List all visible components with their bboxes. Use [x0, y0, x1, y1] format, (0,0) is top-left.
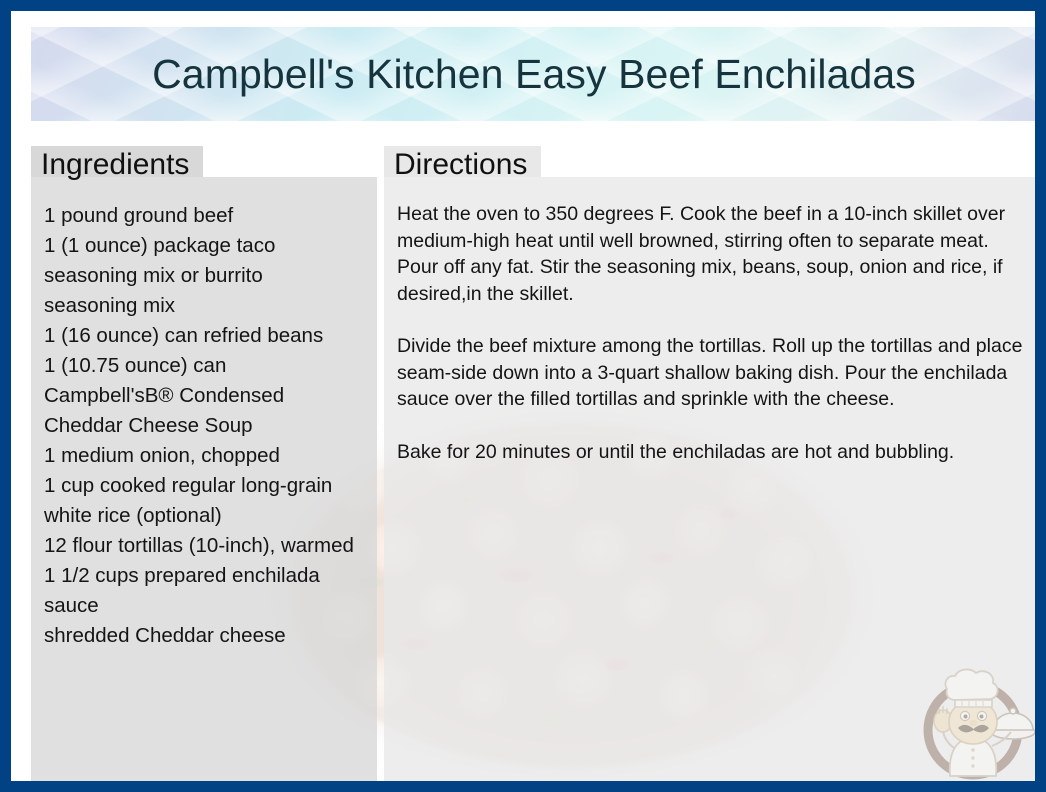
ingredients-list: 1 pound ground beef 1 (1 ounce) package … — [31, 177, 377, 651]
ingredient-item: 1 (16 ounce) can refried beans — [44, 321, 367, 351]
ingredients-heading-tab: Ingredients — [31, 146, 203, 177]
ingredients-heading-label: Ingredients — [41, 149, 189, 181]
ingredient-item: 1 medium onion, chopped — [44, 441, 367, 471]
title-banner: Campbell's Kitchen Easy Beef Enchiladas — [31, 27, 1037, 121]
directions-body: Heat the oven to 350 degrees F. Cook the… — [384, 177, 1038, 465]
ingredient-item: 12 flour tortillas (10-inch), warmed — [44, 531, 367, 561]
ingredient-item: 1 cup cooked regular long-grain — [44, 471, 367, 501]
page-title: Campbell's Kitchen Easy Beef Enchiladas — [152, 54, 916, 95]
directions-panel: Heat the oven to 350 degrees F. Cook the… — [384, 177, 1038, 792]
direction-paragraph: Divide the beef mixture among the tortil… — [397, 333, 1028, 413]
ingredient-item: 1 pound ground beef — [44, 201, 367, 231]
direction-paragraph: Bake for 20 minutes or until the enchila… — [397, 439, 1028, 466]
ingredient-item: seasoning mix or burrito — [44, 261, 367, 291]
ingredient-item: 1 (1 ounce) package taco — [44, 231, 367, 261]
ingredient-item: seasoning mix — [44, 291, 367, 321]
ingredient-item: 1 1/2 cups prepared enchilada — [44, 561, 367, 591]
ingredient-item: sauce — [44, 591, 367, 621]
ingredients-panel: 1 pound ground beef 1 (1 ounce) package … — [31, 177, 377, 792]
ingredient-item: white rice (optional) — [44, 501, 367, 531]
recipe-card: Campbell's Kitchen Easy Beef Enchiladas … — [0, 0, 1046, 792]
direction-paragraph: Heat the oven to 350 degrees F. Cook the… — [397, 201, 1028, 307]
directions-heading-tab: Directions — [384, 146, 541, 177]
ingredient-item: Cheddar Cheese Soup — [44, 411, 367, 441]
ingredient-item: Campbell'sB® Condensed — [44, 381, 367, 411]
ingredient-item: 1 (10.75 ounce) can — [44, 351, 367, 381]
ingredient-item: shredded Cheddar cheese — [44, 621, 367, 651]
directions-heading-label: Directions — [394, 149, 527, 181]
recipe-card-inner: Campbell's Kitchen Easy Beef Enchiladas … — [22, 22, 1046, 792]
